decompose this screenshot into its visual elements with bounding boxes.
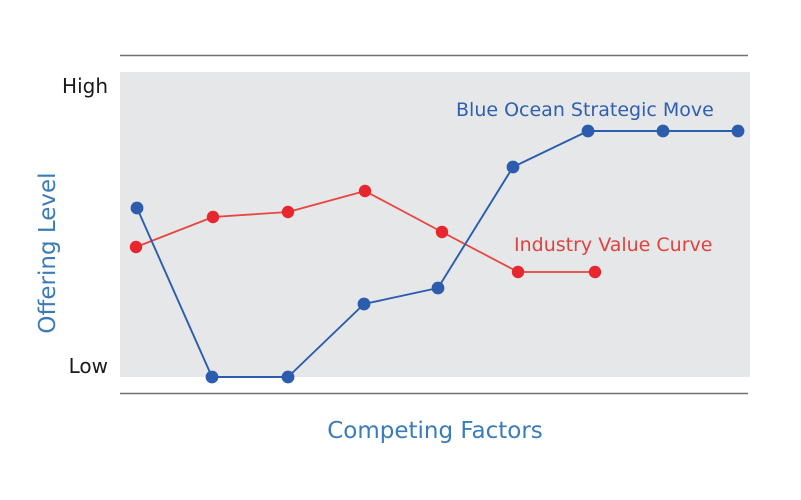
series-label-industry-value-curve: Industry Value Curve [514, 234, 712, 256]
blue-ocean-point [582, 125, 595, 138]
blue-ocean-point [507, 161, 520, 174]
industry-point [359, 185, 371, 197]
industry-point [436, 226, 448, 238]
blue-ocean-point [282, 371, 295, 384]
series-label-blue-ocean-strategic-move: Blue Ocean Strategic Move [456, 99, 714, 121]
blue-ocean-point [131, 202, 144, 215]
blue-ocean-point [358, 298, 371, 311]
industry-point [130, 241, 142, 253]
industry-point [282, 206, 294, 218]
y-axis-title: Offering Level [35, 158, 61, 348]
blue-ocean-point [657, 125, 670, 138]
blue-ocean-point [206, 371, 219, 384]
blue-ocean-point [432, 282, 445, 295]
y-axis-tick-low: Low [0, 354, 108, 378]
industry-point [207, 211, 219, 223]
blue-ocean-point [732, 125, 745, 138]
industry-point [512, 266, 524, 278]
y-axis-tick-high: High [0, 74, 108, 98]
blue-ocean-strategy-canvas-chart: High Low Offering Level Competing Factor… [0, 0, 801, 500]
industry-point [589, 266, 601, 278]
x-axis-title: Competing Factors [120, 418, 750, 444]
